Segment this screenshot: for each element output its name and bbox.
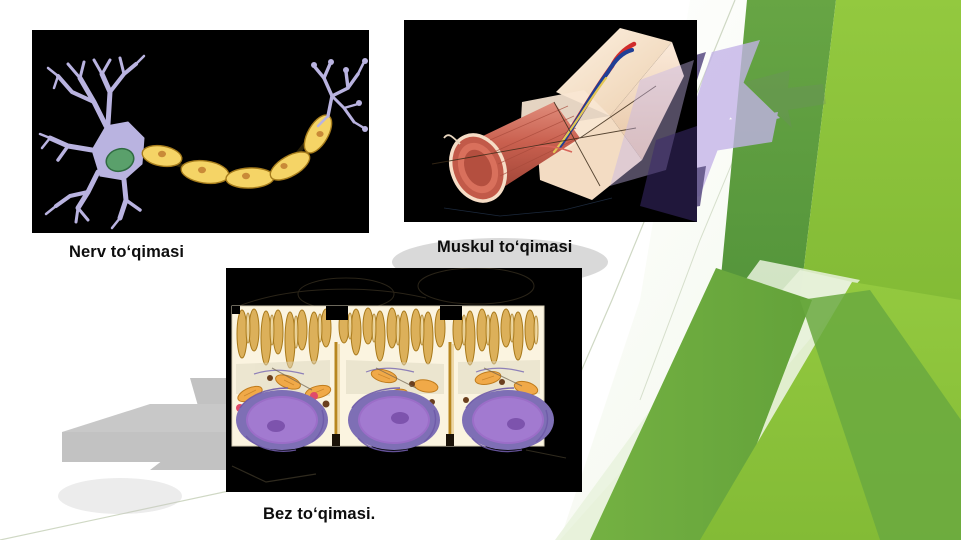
figure-nerve-tissue[interactable] xyxy=(32,30,369,233)
caption-nerve-tissue: Nerv to‘qimasi xyxy=(69,243,184,262)
figure-muscle-tissue[interactable] xyxy=(404,20,697,222)
figure-gland-tissue[interactable] xyxy=(226,268,582,492)
gland-epithelium-diagram xyxy=(226,268,582,492)
bg-shape-pale-triangle xyxy=(560,270,930,540)
bg-shape-pale-triangle-2 xyxy=(555,260,860,540)
arrow-icon xyxy=(745,70,826,128)
bg-shape-green-bright-lower xyxy=(700,282,961,540)
bg-shape-green-bright-upper xyxy=(800,0,961,300)
bg-shape-green-dark-lower xyxy=(800,290,961,540)
caption-muscle-tissue: Muskul to‘qimasi xyxy=(437,238,572,257)
epithelium-panel xyxy=(232,306,554,452)
bg-shape-green-mid-band xyxy=(590,268,812,540)
caption-gland-tissue: Bez to‘qimasi. xyxy=(263,505,375,524)
muscle-tissue-3d-render xyxy=(404,20,697,222)
ellipse-gray-watermark-2 xyxy=(58,478,182,514)
nuclei xyxy=(236,388,554,452)
neuron-diagram xyxy=(32,30,369,233)
slide: Nerv to‘qimasi xyxy=(0,0,961,540)
bg-shape-green-dark-upper xyxy=(716,0,836,330)
